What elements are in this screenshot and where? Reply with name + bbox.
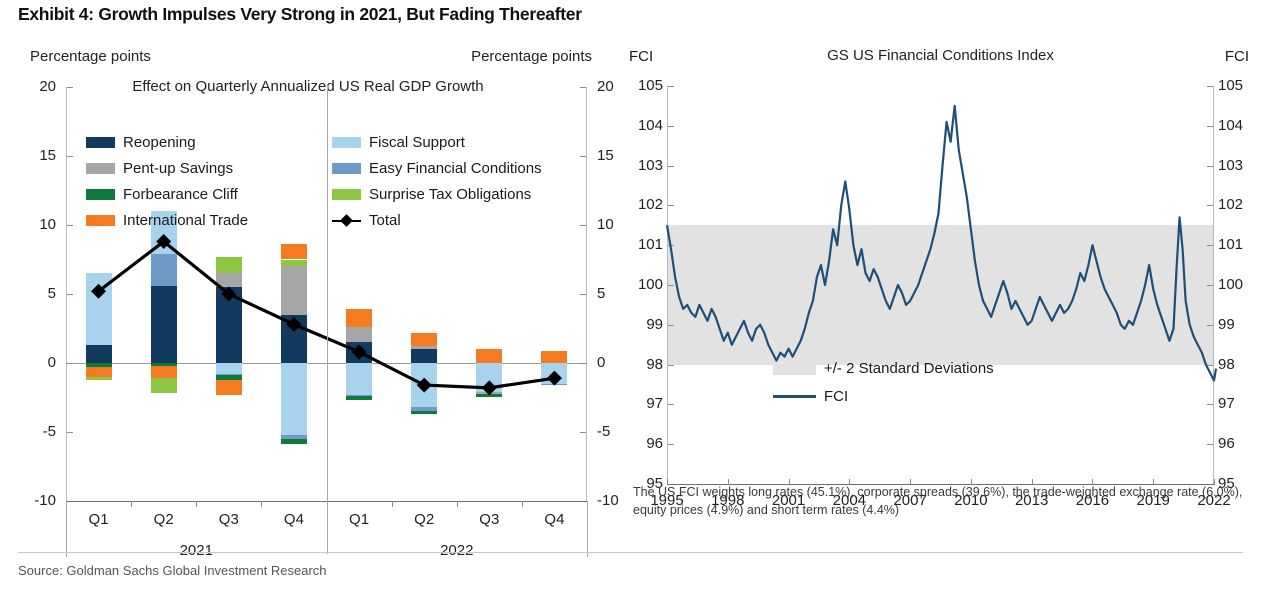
label-band-edge [66, 501, 67, 557]
fci-footnote: The US FCI weights long rates (45.1%), c… [633, 483, 1243, 519]
legend-color-swatch [332, 189, 361, 200]
bar-quarter-label: Q4 [264, 511, 324, 528]
fci-y-tick-label: 97 [619, 396, 663, 411]
legend-item: Fiscal Support [332, 132, 572, 153]
fci-y-tick-label: 100 [1218, 277, 1261, 292]
legend-item: Total [332, 210, 572, 231]
fci-series-line [667, 86, 1214, 484]
fci-y-tick-label: 96 [619, 436, 663, 451]
bar-x-tick [196, 501, 197, 507]
fci-legend-item-label: +/- 2 Standard Deviations [824, 360, 994, 377]
legend-item-label: Reopening [123, 134, 196, 151]
source-note: Source: Goldman Sachs Global Investment … [18, 563, 327, 578]
legend-item: Easy Financial Conditions [332, 158, 572, 179]
bar-quarter-label: Q2 [394, 511, 454, 528]
legend-item: Pent-up Savings [86, 158, 332, 179]
bar-y-tick-label: 15 [0, 148, 56, 163]
exhibit-title: Exhibit 4: Growth Impulses Very Strong i… [18, 4, 582, 25]
legend-color-swatch [332, 163, 361, 174]
fci-legend-item: FCI [773, 382, 994, 410]
fci-y-tick-label: 105 [1218, 78, 1261, 93]
bar-y-tick-label: 5 [0, 286, 56, 301]
bar-quarter-label: Q3 [459, 511, 519, 528]
fci-y-tick-label: 101 [1218, 237, 1261, 252]
fci-y-tick-label: 98 [619, 357, 663, 372]
fci-y-tick-label: 105 [619, 78, 663, 93]
total-marker [417, 378, 432, 393]
fci-y-tick-label: 101 [619, 237, 663, 252]
legend-item: International Trade [86, 210, 332, 231]
fci-line-chart: FCI FCI GS US Financial Conditions Index… [620, 36, 1261, 536]
legend-color-swatch [86, 189, 115, 200]
legend-item-label: International Trade [123, 212, 248, 229]
fci-y-tick-label: 102 [1218, 197, 1261, 212]
bar-y-tick-label: -10 [0, 493, 56, 508]
bar-x-tick [457, 501, 458, 507]
fci-legend-item-label: FCI [824, 388, 848, 405]
left-chart-unit-label-left: Percentage points [30, 48, 151, 65]
legend-item: Forbearance Cliff [86, 184, 332, 205]
legend-item-label: Forbearance Cliff [123, 186, 238, 203]
bar-year-label: 2021 [156, 542, 236, 559]
fci-legend-item: +/- 2 Standard Deviations [773, 354, 994, 382]
fci-y-tick-label: 104 [619, 118, 663, 133]
legend-line-marker-icon [332, 215, 361, 227]
legend-item-label: Pent-up Savings [123, 160, 233, 177]
total-marker [547, 371, 562, 386]
fci-y-tick-label: 102 [619, 197, 663, 212]
bar-y-tick-label: 0 [0, 355, 56, 370]
bar-year-label: 2022 [417, 542, 497, 559]
total-marker [352, 344, 367, 359]
bar-quarter-label: Q1 [329, 511, 389, 528]
total-marker [482, 380, 497, 395]
fci-y-tick-label: 100 [619, 277, 663, 292]
legend-item-label: Total [369, 212, 401, 229]
bar-y-tick-label: 10 [0, 217, 56, 232]
fci-y-tick-label: 103 [619, 158, 663, 173]
fci-y-tick-label: 99 [1218, 317, 1261, 332]
growth-impulse-bar-chart: Percentage points Percentage points Effe… [0, 36, 620, 536]
bar-x-tick [131, 501, 132, 507]
legend-item-label: Surprise Tax Obligations [369, 186, 531, 203]
bar-y-tick-label: -5 [0, 424, 56, 439]
fci-chart-legend: +/- 2 Standard DeviationsFCI [773, 354, 994, 410]
label-band-edge [587, 501, 588, 557]
fci-chart-title: GS US Financial Conditions Index [620, 47, 1261, 64]
fci-y-tick-label: 96 [1218, 436, 1261, 451]
bar-quarter-label: Q3 [199, 511, 259, 528]
legend-color-swatch [86, 137, 115, 148]
fci-y-tick-label: 103 [1218, 158, 1261, 173]
bar-chart-legend: ReopeningFiscal SupportPent-up SavingsEa… [86, 132, 566, 231]
left-chart-unit-label-right: Percentage points [471, 48, 592, 65]
legend-item-label: Fiscal Support [369, 134, 465, 151]
legend-item: Reopening [86, 132, 332, 153]
legend-item: Surprise Tax Obligations [332, 184, 572, 205]
legend-color-swatch [332, 137, 361, 148]
fci-legend-line-icon [773, 390, 816, 403]
fci-y-tick-label: 97 [1218, 396, 1261, 411]
fci-y-tick-label: 104 [1218, 118, 1261, 133]
bar-y-tick-label: 20 [0, 79, 56, 94]
bar-quarter-label: Q2 [134, 511, 194, 528]
bar-x-tick [522, 501, 523, 507]
bar-quarter-label: Q4 [524, 511, 584, 528]
total-marker [286, 317, 301, 332]
bar-quarter-label: Q1 [69, 511, 129, 528]
legend-color-swatch [86, 215, 115, 226]
fci-y-tick-label: 98 [1218, 357, 1261, 372]
legend-color-swatch [86, 163, 115, 174]
fci-plot-area: 9595969697979898999910010010110110210210… [667, 86, 1214, 484]
footer-divider [18, 552, 1243, 553]
bar-x-tick [392, 501, 393, 507]
fci-y-tick-label: 99 [619, 317, 663, 332]
legend-item-label: Easy Financial Conditions [369, 160, 542, 177]
bar-x-tick [261, 501, 262, 507]
fci-legend-band-swatch [773, 362, 816, 375]
